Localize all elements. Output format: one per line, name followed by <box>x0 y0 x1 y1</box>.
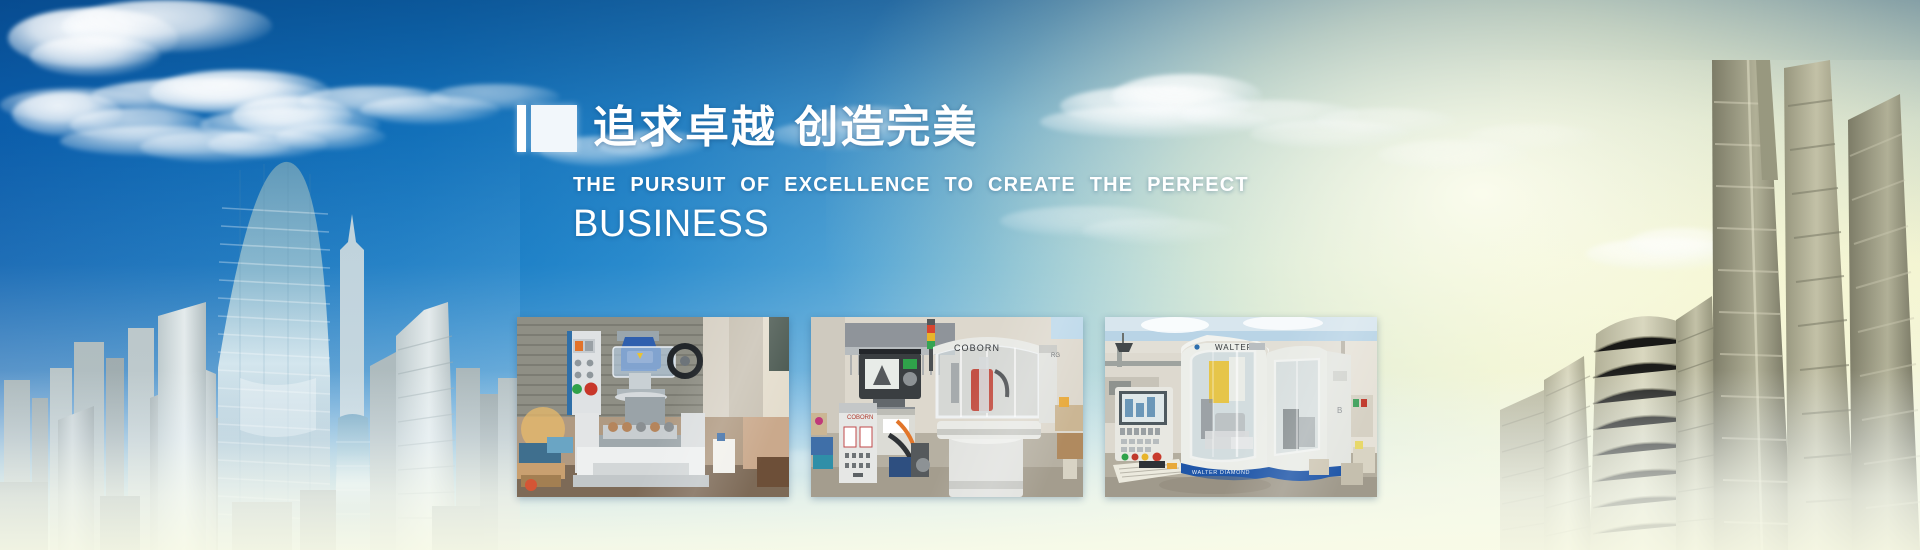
svg-text:B: B <box>1337 406 1342 415</box>
cloud-icon <box>1316 108 1456 134</box>
hero-banner: 追求卓越 创造完美 THE PURSUIT OF EXCELLENCE TO C… <box>0 0 1920 550</box>
svg-text:WALTER DIAMOND: WALTER DIAMOND <box>1192 470 1250 476</box>
photo-coborn-grinder[interactable]: COBORN <box>811 317 1083 497</box>
svg-text:RG: RG <box>1051 353 1060 359</box>
photo-edm-machine[interactable] <box>517 317 789 497</box>
subheadline-english: THE PURSUIT OF EXCELLENCE TO CREATE THE … <box>573 174 1217 197</box>
svg-text:COBORN: COBORN <box>847 415 873 421</box>
photo-walter-tool-grinder[interactable]: WALTER B WALTER DIAMOND <box>1105 317 1377 497</box>
city-skyline-left <box>0 130 520 550</box>
machine-photo-gallery: COBORN <box>517 317 1377 497</box>
banner-copy: 追求卓越 创造完美 THE PURSUIT OF EXCELLENCE TO C… <box>517 100 1217 247</box>
brand-logo-mark <box>517 105 577 152</box>
wordmark-business: BUSINESS <box>573 203 1217 247</box>
city-skyline-right <box>1500 60 1920 550</box>
cloud-icon <box>30 36 160 76</box>
headline-row: 追求卓越 创造完美 <box>517 100 1217 156</box>
svg-text:WALTER: WALTER <box>1215 343 1253 352</box>
logo-bar-icon <box>517 105 526 152</box>
svg-text:COBORN: COBORN <box>954 343 1000 353</box>
logo-square-icon <box>531 105 577 152</box>
headline-chinese: 追求卓越 创造完美 <box>593 106 978 150</box>
